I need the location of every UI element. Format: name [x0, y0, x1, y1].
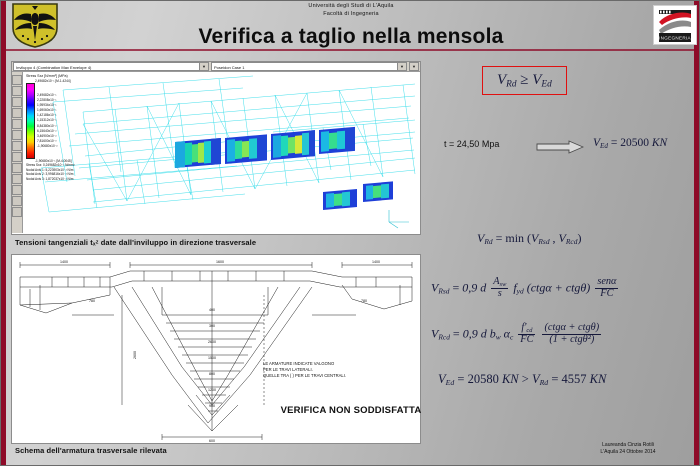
- check-equation: VRd ≥ VEd: [497, 72, 552, 88]
- tool-node-icon[interactable]: [12, 141, 22, 151]
- tool-pointer-icon[interactable]: [12, 75, 22, 85]
- greater-than-operator: >: [522, 372, 529, 386]
- legend-value: 1,15312x10⁻¹: [37, 118, 57, 123]
- fcd-sub: cd: [526, 327, 532, 334]
- svg-text:400: 400: [209, 308, 215, 312]
- university-line-1: Università degli Studi di L'Aquila: [1, 3, 700, 11]
- drawing-caption: Schema dell'armatura trasversale rilevat…: [15, 446, 167, 455]
- svg-text:300: 300: [209, 324, 215, 328]
- drawing-note-line: QUELLE TRA ( ) PER LE TRAVI CENTRALI.: [263, 373, 346, 379]
- vrcd-sub: Rcd: [438, 332, 450, 341]
- tool-label-icon[interactable]: [12, 163, 22, 173]
- vrcd-formula: VRcd = 0,9 d bw αc f'cd FC (ctgα + ctgθ)…: [431, 323, 603, 346]
- presentation-slide: Università degli Studi di L'Aquila Facol…: [0, 0, 700, 466]
- right-accent-bar: [694, 1, 699, 466]
- vrsd-formula: VRsd = 0,9 d Asw s fyd (ctgα + ctgθ) sen…: [431, 277, 620, 300]
- ctg-ratio-fraction: (ctgα + ctgθ) (1 + ctgθ²): [542, 323, 601, 346]
- svg-text:2600: 2600: [208, 340, 216, 344]
- vrd-min-formula: VRd = min (VRsd , VRcd) V_Rd = min ( V_R…: [477, 231, 581, 246]
- combo-envelope[interactable]: Inviluppo 4 (Combination Max Envelope 4)…: [13, 62, 209, 71]
- tool-zoom-icon[interactable]: [12, 86, 22, 96]
- tau-unit: Mpa: [482, 139, 500, 149]
- left-accent-bar: [1, 1, 6, 466]
- legend-title: Stress Sxz [N/mm²] (MPa): [26, 74, 88, 78]
- slide-footer: Laureanda Cinzia Rotili L'Aquila 24 Otto…: [561, 442, 695, 456]
- result-eq1: =: [457, 372, 464, 386]
- result-eq2: =: [551, 372, 558, 386]
- vrsd-eq: =: [453, 280, 460, 294]
- contour-legend: Stress Sxz [N/mm²] (MPa) 2,49682x10⁻¹ [M…: [26, 74, 88, 181]
- s-symbol: s: [491, 289, 508, 300]
- fem-toolbar: Inviluppo 4 (Combination Max Envelope 4)…: [12, 62, 420, 72]
- svg-text:1400: 1400: [60, 260, 68, 264]
- page-title: Verifica a taglio nella mensola: [1, 25, 700, 49]
- right-arrow-icon: [536, 140, 584, 154]
- drawing-note: LE ARMATURE INDICATE VALGONO PER LE TRAV…: [263, 361, 346, 380]
- ved-result-sub: Ed: [600, 142, 608, 150]
- chevron-down-icon[interactable]: ▼: [397, 63, 406, 70]
- svg-text:600: 600: [209, 439, 215, 443]
- legend-footer: Stress Sxz: 0,249682x10⁻¹ N/mm² Nodal Ax…: [26, 163, 88, 181]
- svg-text:1400: 1400: [372, 260, 380, 264]
- legend-scale: 2,49682x10⁻¹ 2,22808x10⁻¹ 1,95934x10⁻¹ 1…: [26, 83, 88, 159]
- ved-subscript: Ed: [541, 80, 551, 90]
- tau-value-line: t = 24,50 Mpa: [444, 139, 499, 149]
- svg-text:800: 800: [209, 372, 215, 376]
- boxed-check-equation: VRd ≥ VEd: [482, 66, 567, 95]
- fyd-sub: yd: [517, 286, 524, 295]
- svg-text:1200: 1200: [208, 388, 216, 392]
- result-vrd-sub: Rd: [540, 378, 549, 387]
- tool-render-icon[interactable]: [12, 185, 22, 195]
- vrcd-coef: 0,9 d b: [463, 326, 496, 340]
- result-vrd-symbol: V: [532, 372, 540, 386]
- result-unit2: KN: [590, 372, 607, 386]
- chevron-down-icon[interactable]: ▼: [409, 63, 418, 70]
- university-name: Università degli Studi di L'Aquila Facol…: [1, 3, 700, 18]
- alpha-sub: c: [510, 332, 513, 341]
- fem-caption: Tensioni tangenziali tₓᶻ date dall'invil…: [15, 238, 256, 247]
- svg-text:780: 780: [89, 299, 95, 303]
- tool-contour-icon[interactable]: [12, 119, 22, 129]
- ved-result-value: 20500: [620, 137, 649, 149]
- combo-contour[interactable]: LC1.1 (Contour) ▼: [409, 62, 419, 71]
- combo-envelope-label: Inviluppo 4 (Combination Max Envelope 4): [16, 65, 91, 70]
- result-ved-value: 20580: [468, 372, 499, 386]
- vrsd-sub: Rsd: [438, 286, 449, 295]
- svg-text:1600: 1600: [216, 260, 224, 264]
- vrcd-eq: =: [453, 326, 460, 340]
- result-ved-sub: Ed: [446, 378, 455, 387]
- fem-analysis-window: Inviluppo 4 (Combination Max Envelope 4)…: [11, 61, 421, 235]
- asw-sub: sw: [500, 281, 507, 288]
- legend-value: 8,84380x10⁻²: [37, 124, 57, 129]
- fem-body: Stress Sxz [N/mm²] (MPa) 2,49682x10⁻¹ [M…: [12, 72, 420, 233]
- vrsd-coef: 0,9 d: [462, 280, 486, 294]
- legend-footer-line: Nodal Axis 3: 1,872037x10⁻² N/m: [26, 177, 88, 182]
- vrd-symbol: V: [497, 72, 506, 88]
- svg-text:1500: 1500: [208, 356, 216, 360]
- vrd-subscript: Rd: [506, 80, 516, 90]
- ctg-den: (1 + ctgθ²): [542, 335, 601, 346]
- ved-result-unit: KN: [652, 137, 667, 149]
- svg-text:780: 780: [361, 299, 367, 303]
- tau-value: 24,50: [457, 139, 480, 149]
- tool-section-icon[interactable]: [12, 174, 22, 184]
- fc-symbol: FC: [595, 289, 618, 300]
- bw-sub: w: [496, 332, 501, 341]
- tau-label: t =: [444, 139, 454, 149]
- vrsd-paren: (ctgα + ctgθ): [527, 280, 591, 294]
- header-rule: [6, 49, 696, 51]
- legend-color-bar: [26, 83, 35, 159]
- asw-over-s-fraction: Asw s: [491, 277, 508, 300]
- geq-operator: ≥: [520, 72, 528, 88]
- ved-result-eq: =: [611, 137, 618, 149]
- tool-mesh-icon[interactable]: [12, 130, 22, 140]
- result-ved-symbol: V: [438, 372, 446, 386]
- tool-element-icon[interactable]: [12, 152, 22, 162]
- legend-value: -1,90680x10⁻²: [37, 144, 57, 149]
- tool-settings-icon[interactable]: [12, 207, 22, 217]
- result-vrd-value: 4557: [562, 372, 587, 386]
- legend-value: 6,15640x10⁻²: [37, 129, 57, 134]
- sena-over-fc-fraction: senα FC: [595, 277, 618, 300]
- combo-load-case-label: Poseidon Case 1: [214, 65, 244, 70]
- tool-pan-icon[interactable]: [12, 97, 22, 107]
- ved-result-symbol: V: [593, 137, 600, 149]
- final-result-equation: VEd = 20580 KN > VRd = 4557 KN: [438, 372, 606, 387]
- tool-rotate-icon[interactable]: [12, 108, 22, 118]
- fcd-over-fc-fraction: f'cd FC: [518, 323, 535, 346]
- svg-text:2600: 2600: [133, 351, 137, 359]
- university-line-2: Facoltà di Ingegneria: [1, 11, 700, 19]
- chevron-down-icon[interactable]: ▼: [199, 63, 208, 70]
- fem-tool-strip[interactable]: [12, 72, 23, 233]
- verdict-text: VERIFICA NON SODDISFATTA: [1, 405, 700, 416]
- combo-load-case[interactable]: Poseidon Case 1 ▼: [211, 62, 407, 71]
- fc-symbol: FC: [518, 335, 535, 346]
- footer-date: L'Aquila 24 Ottobre 2014: [561, 449, 695, 456]
- result-unit1: KN: [502, 372, 519, 386]
- footer-author: Laureanda Cinzia Rotili: [561, 442, 695, 449]
- tool-print-icon[interactable]: [12, 196, 22, 206]
- legend-values: 2,49682x10⁻¹ 2,22808x10⁻¹ 1,95934x10⁻¹ 1…: [37, 93, 57, 149]
- ved-result: VEd = 20500 KN: [593, 137, 667, 150]
